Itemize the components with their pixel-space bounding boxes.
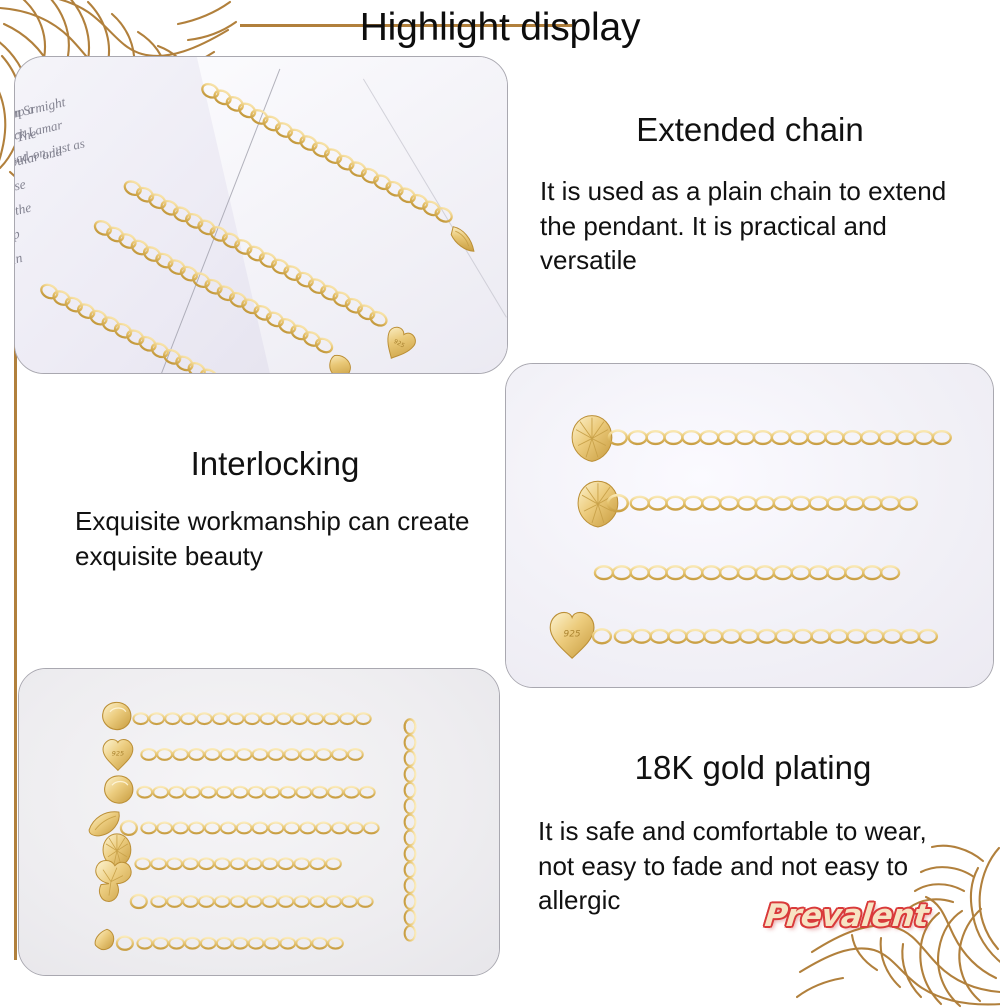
section-extended-chain: Extended chain It is used as a plain cha… [540,112,960,277]
engraved-heart-charm-icon: 925 [550,612,594,658]
product-photo-newspaper: day, g once To Pimp a endrick Lamar is h… [14,56,508,374]
section-body: It is used as a plain chain to extend th… [540,174,960,277]
chain-group-horizontal-four: 925 [506,364,993,687]
lobster-clasp-icon [105,776,133,803]
shell-fan-charm-icon [572,416,612,462]
product-photo-four-chains: 925 [505,363,994,688]
svg-text:925: 925 [564,629,581,639]
product-photo-seven-chains: 925 [18,668,500,976]
wing-charm-icon [89,812,119,836]
poster-canvas: Highlight display day, g once To Pimp a … [0,0,1000,1000]
section-gold-plating: 18K gold plating It is safe and comforta… [538,750,968,917]
chain-group-seven-plus-one: 925 [19,669,499,975]
brand-watermark: Prevalent [763,898,930,934]
section-interlocking: Interlocking Exquisite workmanship can c… [75,446,475,573]
wing-charm-icon [447,226,480,253]
section-heading: 18K gold plating [538,750,968,786]
engraved-heart-charm-icon: 925 [103,740,133,771]
chain-vertical [405,719,416,940]
flower-charm-icon [96,860,131,901]
svg-text:925: 925 [112,749,124,757]
section-body: Exquisite workmanship can create exquisi… [75,504,475,573]
teardrop-charm-icon [95,929,114,949]
engraved-heart-charm-icon: 925 [379,324,418,364]
section-heading: Extended chain [540,112,960,148]
lobster-clasp-icon [103,702,131,729]
teardrop-charm-icon [325,352,354,373]
section-heading: Interlocking [75,446,475,482]
chain-group-diagonal: 925 [15,57,507,373]
page-title: Highlight display [0,6,1000,50]
shell-fan-charm-icon [578,481,618,527]
